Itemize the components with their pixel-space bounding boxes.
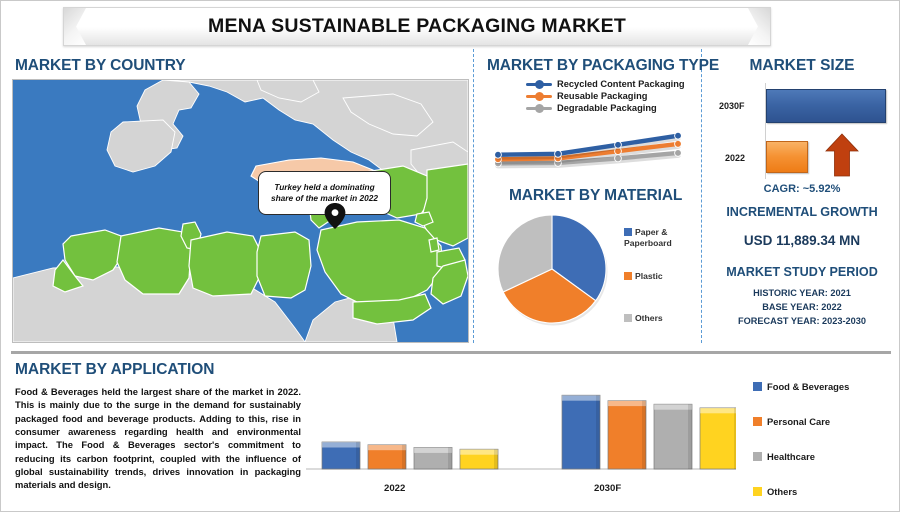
map-by-country[interactable]: Turkey held a dominating share of the ma… [12, 79, 467, 341]
page-title: MENA SUSTAINABLE PACKAGING MARKET [208, 15, 626, 38]
title-banner: MENA SUSTAINABLE PACKAGING MARKET [63, 7, 769, 44]
legend-label: Reusable Packaging [557, 91, 647, 101]
market-study-period-heading: MARKET STUDY PERIOD [707, 265, 897, 279]
chart-application[interactable]: 2022 2030F [306, 367, 736, 507]
legend-swatch [624, 314, 632, 322]
legend-swatch [753, 452, 762, 461]
chart-material[interactable]: Paper & Paperboard Plastic Others [482, 183, 694, 341]
legend-label: Others [635, 313, 663, 323]
incremental-growth-heading: INCREMENTAL GROWTH [707, 205, 897, 219]
legend-item: Healthcare [753, 439, 893, 474]
mena-map-graphic [12, 79, 469, 343]
legend-label: Others [767, 486, 797, 497]
section-heading-market-size: MARKET SIZE [707, 57, 897, 75]
application-paragraph: Food & Beverages held the largest share … [15, 385, 301, 492]
legend-item: Personal Care [753, 404, 893, 439]
application-bar-plot [306, 367, 736, 479]
map-callout-text: Turkey held a dominating share of the ma… [264, 182, 385, 203]
legend-swatch [753, 487, 762, 496]
legend-item: Food & Beverages [753, 369, 893, 404]
ribbon-fold-right-icon [748, 8, 770, 45]
cagr-value: CAGR: ~5.92% [707, 183, 897, 195]
forecast-year: FORECAST YEAR: 2023-2030 [707, 315, 897, 329]
material-pie-chart [492, 209, 612, 329]
pie-legend-item: Others [624, 313, 663, 324]
pie-legend-item: Plastic [624, 271, 663, 282]
section-heading-application: MARKET BY APPLICATION [15, 361, 301, 379]
legend-swatch [753, 417, 762, 426]
divider-vertical-right [701, 49, 702, 343]
packaging-type-plot [490, 125, 686, 175]
chart-packaging-type[interactable]: Recycled Content Packaging Reusable Pack… [482, 53, 694, 175]
legend-item: Reusable Packaging [526, 91, 685, 101]
map-pin-icon [324, 203, 346, 229]
market-size-category-label: 2022 [725, 153, 745, 163]
market-size-bar-2022 [766, 141, 808, 173]
legend-swatch [753, 382, 762, 391]
incremental-growth-value: USD 11,889.34 MN [707, 233, 897, 248]
legend-label: Food & Beverages [767, 381, 849, 392]
ribbon-fold-left-icon [64, 8, 86, 45]
base-year: BASE YEAR: 2022 [707, 301, 897, 315]
market-size-bar-2030f [766, 89, 886, 123]
infographic-page: MENA SUSTAINABLE PACKAGING MARKET MARKET… [0, 0, 900, 512]
pie-legend-item: Paper & Paperboard [624, 227, 694, 248]
divider-horizontal [11, 351, 891, 354]
application-panel: MARKET BY APPLICATION Food & Beverages h… [15, 361, 301, 492]
market-size-chart[interactable]: 2030F 2022 [715, 83, 891, 179]
legend-swatch [624, 228, 632, 236]
packaging-type-legend: Recycled Content Packaging Reusable Pack… [526, 79, 685, 115]
legend-label: Recycled Content Packaging [557, 79, 685, 89]
divider-vertical-left [473, 49, 474, 343]
legend-swatch [624, 272, 632, 280]
legend-label: Healthcare [767, 451, 815, 462]
legend-item: Others [753, 474, 893, 509]
section-heading-country: MARKET BY COUNTRY [15, 57, 186, 75]
legend-item: Degradable Packaging [526, 103, 685, 113]
market-size-category-label: 2030F [719, 101, 745, 111]
legend-label: Plastic [635, 271, 663, 281]
application-legend: Food & Beverages Personal Care Healthcar… [753, 369, 893, 509]
legend-label: Degradable Packaging [557, 103, 657, 113]
up-arrow-icon [825, 133, 859, 177]
legend-label: Personal Care [767, 416, 830, 427]
historic-year: HISTORIC YEAR: 2021 [707, 287, 897, 301]
bar-group-label-2030f: 2030F [594, 483, 621, 494]
bar-group-label-2022: 2022 [384, 483, 405, 494]
legend-item: Recycled Content Packaging [526, 79, 685, 89]
market-size-panel: MARKET SIZE 2030F 2022 CAGR: ~5.92% INCR… [707, 53, 897, 343]
